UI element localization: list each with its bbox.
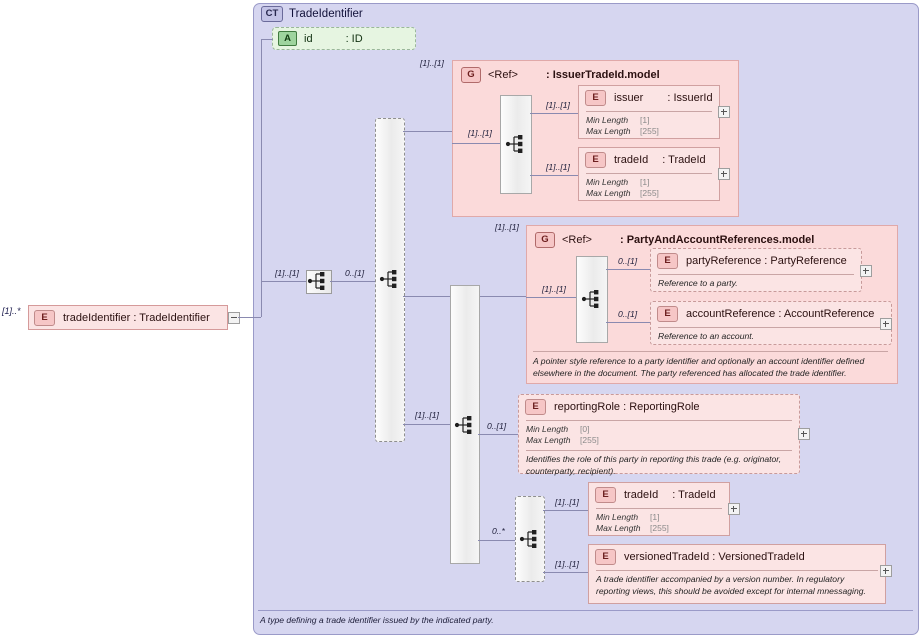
element-partyreference-expand-toggle[interactable]	[860, 265, 872, 277]
element-badge: E	[34, 310, 55, 326]
element-tradeid-header: E tradeId : TradeId	[579, 148, 719, 172]
element-partyreference[interactable]: E partyReference : PartyReference Refere…	[650, 248, 862, 292]
attribute-connector-horizontal	[261, 39, 273, 40]
element-badge: E	[657, 306, 678, 322]
sequence-icon	[519, 529, 541, 549]
group-badge: G	[535, 232, 555, 248]
sequence-bar-group-2[interactable]	[576, 256, 608, 343]
element-reportingrole-name: reportingRole : ReportingRole	[554, 401, 700, 413]
line-bar-to-group-1	[403, 131, 453, 132]
element-reportingrole-facets: Min Length [0] Max Length [255]	[519, 421, 799, 449]
facet-value: [255]	[580, 435, 599, 446]
group-1-header: G <Ref> : IssuerTradeId.model	[461, 67, 660, 83]
line-into-group-1-bar	[452, 143, 500, 144]
element-issuer-expand-toggle[interactable]	[718, 106, 730, 118]
sequence-icon-wrap	[379, 269, 401, 294]
sequence-bar-second[interactable]	[450, 285, 480, 564]
facet-value: [1]	[650, 512, 659, 523]
element-issuer-facets: Min Length [1] Max Length [255]	[579, 112, 719, 140]
root-sequence-cardinality: [1]..[1]	[275, 268, 299, 278]
group-2-documentation: A pointer style reference to a party ide…	[533, 356, 889, 379]
line-to-issuer	[530, 113, 578, 114]
facet-name: Min Length	[586, 177, 640, 188]
attribute-connector-vertical	[261, 39, 262, 317]
sequence-icon-wrap	[454, 415, 476, 440]
element-tradeid-group1-expand-toggle[interactable]	[718, 168, 730, 180]
facet-name: Max Length	[586, 188, 640, 199]
element-tradeid-name: tradeId	[614, 154, 648, 166]
element-versionedtradeid-name: versionedTradeId : VersionedTradeId	[624, 551, 805, 563]
schema-diagram-canvas: CT TradeIdentifier A id : ID [1]..* E tr…	[0, 0, 922, 638]
attribute-type: : ID	[346, 33, 363, 45]
group-1-model: : IssuerTradeId.model	[546, 69, 660, 81]
bottom-tradeid-cardinality: [1]..[1]	[555, 497, 579, 507]
element-tradeid-bottom[interactable]: E tradeId : TradeId Min Length [1] Max L…	[588, 482, 730, 536]
sequence-icon	[307, 271, 329, 291]
element-partyreference-header: E partyReference : PartyReference	[651, 249, 861, 273]
model-group-bar-outer[interactable]	[375, 118, 405, 442]
line-to-partyreference	[606, 269, 650, 270]
sequence-icon	[581, 289, 603, 309]
facet-name: Min Length	[526, 424, 580, 435]
element-accountreference-name: accountReference : AccountReference	[686, 308, 874, 320]
element-issuer[interactable]: E issuer : IssuerId Min Length [1] Max L…	[578, 85, 720, 139]
reportingrole-cardinality: 0..[1]	[487, 421, 506, 431]
element-tradeid-type: : TradeId	[662, 154, 705, 166]
outer-group-cardinality: 0..[1]	[345, 268, 364, 278]
element-tradeid-bottom-header: E tradeId : TradeId	[589, 483, 729, 507]
element-tradeid-bottom-facets: Min Length [1] Max Length [255]	[589, 509, 729, 537]
element-versionedtradeid-documentation: A trade identifier accompanied by a vers…	[589, 571, 885, 600]
facet-row: Max Length [255]	[596, 523, 729, 534]
element-badge: E	[585, 90, 606, 106]
facet-name: Min Length	[596, 512, 650, 523]
element-partyreference-documentation: Reference to a party.	[651, 275, 861, 293]
facet-value: [1]	[640, 177, 649, 188]
line-into-group-2-bar	[526, 297, 576, 298]
element-accountreference-header: E accountReference : AccountReference	[651, 302, 891, 326]
element-versionedtradeid-header: E versionedTradeId : VersionedTradeId	[589, 545, 885, 569]
facet-value: [255]	[640, 188, 659, 199]
root-element-collapse-toggle[interactable]	[228, 312, 240, 324]
element-tradeid-facets: Min Length [1] Max Length [255]	[579, 174, 719, 202]
container-doc-divider	[258, 610, 913, 611]
facet-name: Max Length	[526, 435, 580, 446]
facet-row: Min Length [0]	[526, 424, 799, 435]
facet-value: [1]	[640, 115, 649, 126]
root-element-cardinality: [1]..*	[2, 306, 21, 316]
element-badge: E	[585, 152, 606, 168]
element-badge: E	[595, 487, 616, 503]
group-1-ref: <Ref>	[488, 69, 518, 81]
line-to-accountreference	[606, 322, 650, 323]
group-2-sequence-cardinality: [1]..[1]	[542, 284, 566, 294]
line-to-reportingrole	[478, 434, 518, 435]
sequence-compositor-root[interactable]	[306, 270, 332, 294]
facet-row: Min Length [1]	[596, 512, 729, 523]
sequence-icon	[454, 415, 476, 435]
facet-row: Max Length [255]	[586, 188, 719, 199]
sequence-icon	[505, 134, 527, 154]
element-reportingrole-expand-toggle[interactable]	[798, 428, 810, 440]
group-badge: G	[461, 67, 481, 83]
complextype-title: TradeIdentifier	[289, 8, 363, 20]
attribute-id[interactable]: A id : ID	[272, 27, 416, 50]
attribute-name: id	[304, 33, 313, 45]
root-element-label: tradeIdentifier : TradeIdentifier	[63, 312, 210, 324]
facet-row: Min Length [1]	[586, 115, 719, 126]
group1-tradeid-cardinality: [1]..[1]	[546, 162, 570, 172]
element-versionedtradeid-expand-toggle[interactable]	[880, 565, 892, 577]
line-to-root-sequence	[261, 281, 306, 282]
group-1-cardinality: [1]..[1]	[420, 58, 444, 68]
complextype-badge: CT	[261, 6, 283, 22]
model-group-bar-choice[interactable]	[515, 496, 545, 582]
element-issuer-header: E issuer : IssuerId	[579, 86, 719, 110]
group-2-divider	[533, 351, 888, 352]
line-bar-to-choice-group	[478, 540, 516, 541]
issuer-cardinality: [1]..[1]	[546, 100, 570, 110]
element-issuer-name: issuer	[614, 92, 643, 104]
group-1-sequence-cardinality: [1]..[1]	[468, 128, 492, 138]
element-reportingrole-documentation: Identifies the role of this party in rep…	[519, 451, 799, 480]
element-partyreference-name: partyReference : PartyReference	[686, 255, 847, 267]
line-bar-to-second-sequence	[403, 424, 451, 425]
element-tradeid-bottom-name: tradeId	[624, 489, 658, 501]
complextype-header: CT TradeIdentifier	[261, 5, 363, 23]
element-badge: E	[595, 549, 616, 565]
facet-value: [255]	[650, 523, 669, 534]
element-tradeid-bottom-type: : TradeId	[672, 489, 715, 501]
root-to-container-line	[238, 317, 261, 318]
line-to-bottom-tradeid	[543, 510, 588, 511]
element-reportingrole[interactable]: E reportingRole : ReportingRole Min Leng…	[518, 394, 800, 474]
second-sequence-cardinality: [1]..[1]	[415, 410, 439, 420]
line-sequence-to-group-bar	[330, 281, 376, 282]
attribute-badge: A	[278, 31, 297, 46]
facet-value: [255]	[640, 126, 659, 137]
group-2-model: : PartyAndAccountReferences.model	[620, 234, 814, 246]
sequence-icon-wrap	[505, 134, 527, 159]
group-2-header: G <Ref> : PartyAndAccountReferences.mode…	[535, 232, 814, 248]
line-to-group1-tradeid	[530, 175, 578, 176]
element-accountreference[interactable]: E accountReference : AccountReference Re…	[650, 301, 892, 345]
choice-group-cardinality: 0..*	[492, 526, 505, 536]
element-accountreference-expand-toggle[interactable]	[880, 318, 892, 330]
sequence-icon-wrap	[519, 529, 541, 554]
element-tradeid-group1[interactable]: E tradeId : TradeId Min Length [1] Max L…	[578, 147, 720, 201]
facet-value: [0]	[580, 424, 589, 435]
root-element-box[interactable]: E tradeIdentifier : TradeIdentifier	[28, 305, 228, 330]
group-2-ref: <Ref>	[562, 234, 592, 246]
element-badge: E	[525, 399, 546, 415]
sequence-icon	[379, 269, 401, 289]
line-to-versionedtradeid	[543, 572, 588, 573]
element-versionedtradeid[interactable]: E versionedTradeId : VersionedTradeId A …	[588, 544, 886, 604]
element-badge: E	[657, 253, 678, 269]
facet-name: Max Length	[596, 523, 650, 534]
sequence-icon-wrap	[581, 289, 603, 314]
sequence-bar-group-1[interactable]	[500, 95, 532, 194]
facet-name: Min Length	[586, 115, 640, 126]
partyreference-cardinality: 0..[1]	[618, 256, 637, 266]
facet-name: Max Length	[586, 126, 640, 137]
element-reportingrole-header: E reportingRole : ReportingRole	[519, 395, 799, 419]
element-issuer-type: : IssuerId	[667, 92, 712, 104]
container-documentation: A type defining a trade identifier issue…	[260, 615, 494, 625]
versionedtradeid-cardinality: [1]..[1]	[555, 559, 579, 569]
group-2-cardinality: [1]..[1]	[495, 222, 519, 232]
accountreference-cardinality: 0..[1]	[618, 309, 637, 319]
facet-row: Min Length [1]	[586, 177, 719, 188]
element-accountreference-documentation: Reference to an account.	[651, 328, 891, 346]
element-tradeid-bottom-expand-toggle[interactable]	[728, 503, 740, 515]
facet-row: Max Length [255]	[526, 435, 799, 446]
facet-row: Max Length [255]	[586, 126, 719, 137]
